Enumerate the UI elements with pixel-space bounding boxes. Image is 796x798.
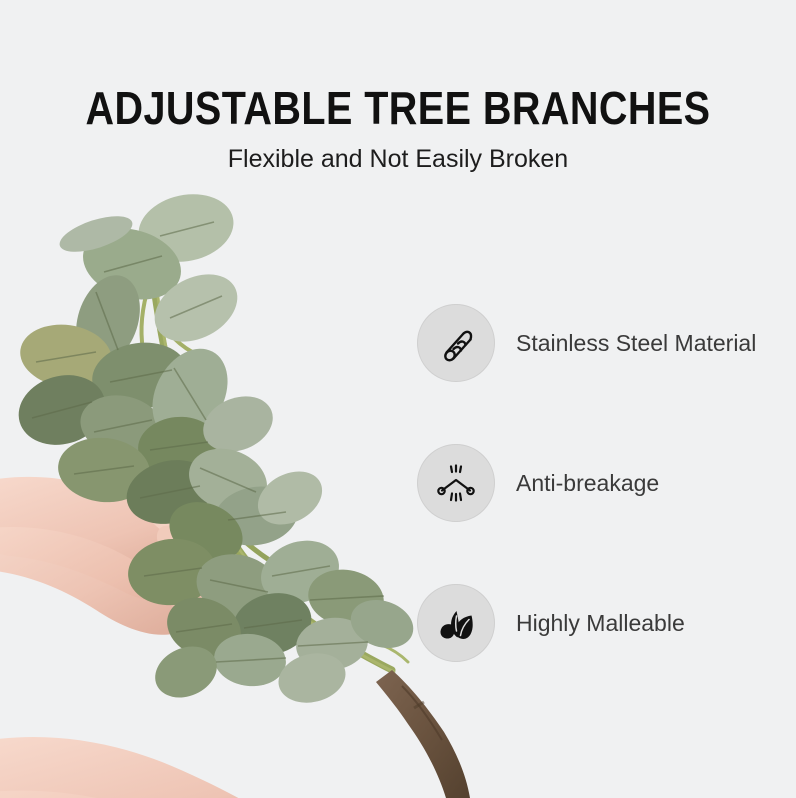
right-hand-graphic [0,737,360,798]
feature-item-anti-breakage: Anti-breakage [417,444,796,522]
foliage-graphic [10,186,419,710]
product-photo [0,180,470,798]
page-subtitle: Flexible and Not Easily Broken [0,132,796,174]
woody-stem-graphic [376,670,470,798]
product-infographic: ADJUSTABLE TREE BRANCHES Flexible and No… [0,0,796,798]
steel-rod-icon [417,304,495,382]
feature-label: Anti-breakage [516,469,659,497]
feature-label: Highly Malleable [516,609,685,637]
page-title: ADJUSTABLE TREE BRANCHES [56,0,741,132]
header: ADJUSTABLE TREE BRANCHES Flexible and No… [0,0,796,174]
feature-item-highly-malleable: Highly Malleable [417,584,796,662]
leaf-cluster-icon [417,584,495,662]
feature-list: Stainless Steel Material [417,304,796,662]
feature-item-stainless-steel: Stainless Steel Material [417,304,796,382]
bent-rod-impact-icon [417,444,495,522]
left-hand-graphic [0,477,229,635]
branch-stem-graphic [141,240,408,672]
feature-label: Stainless Steel Material [516,329,756,357]
